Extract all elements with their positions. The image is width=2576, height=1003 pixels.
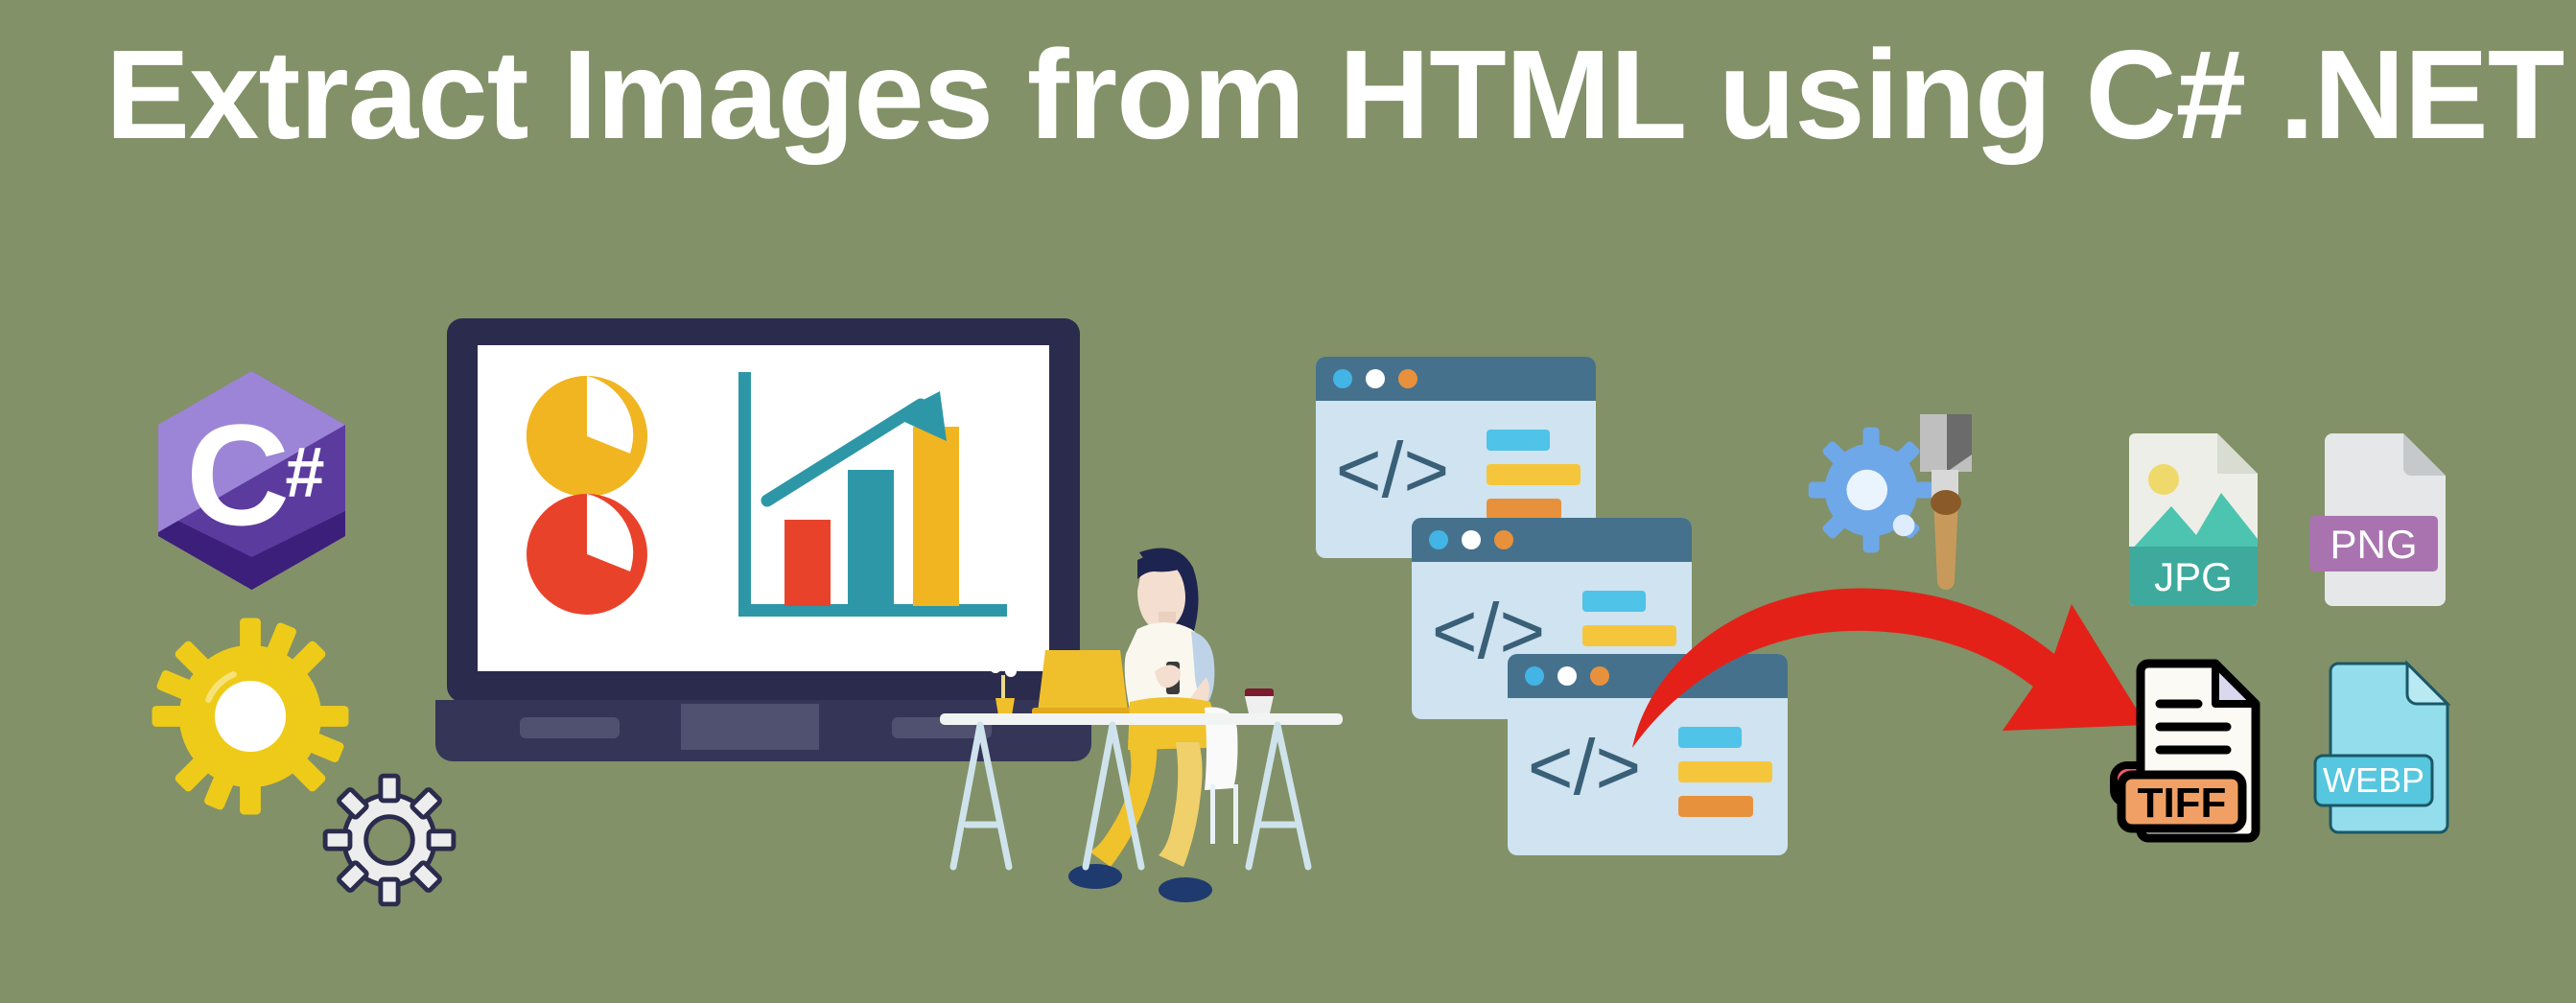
desk-leg-right [1249,725,1308,867]
brush-paint-blob [1931,490,1961,515]
jpg-sun-icon [2148,464,2179,495]
code-symbol: </> [1336,427,1450,514]
desk-leg-left [953,725,1009,867]
csharp-hash: # [285,432,324,512]
coffee-cup [1245,688,1274,713]
gear-hub [215,681,286,752]
code-bar-yellow-icon [1487,464,1581,485]
webp-label: WEBP [2323,760,2424,800]
yellow-laptop [1032,650,1136,715]
png-fold [2403,433,2446,476]
chart-pie-yellow [527,376,647,497]
dot-orange-icon [1590,666,1609,686]
jpg-fold [2217,433,2258,474]
desk-scene [940,537,1381,940]
desk-top [940,713,1343,725]
banner-root: Extract Images from HTML using C# .NET C… [0,0,2576,1003]
dot-white-icon [1557,666,1577,686]
chart-bar-2 [848,470,894,606]
dot-white-icon [1462,530,1481,549]
chart-bar-1 [785,520,831,606]
csharp-logo: C # [153,369,350,592]
csharp-letter: C [186,394,290,555]
png-label: PNG [2330,522,2417,567]
dot-cyan-icon [1333,369,1352,388]
page-title: Extract Images from HTML using C# .NET [105,27,2484,164]
laptop-trackpad [681,704,819,750]
shoe-front [1068,864,1122,889]
dot-cyan-icon [1525,666,1544,686]
conversion-arrow-icon [1621,547,2158,786]
tiff-fold [2215,664,2256,704]
laptop-key-left [520,717,620,738]
code-window-titlebar [1316,357,1596,401]
file-icon-webp[interactable]: WEBP [2313,662,2457,834]
arrow-body [1632,588,2146,748]
code-bar-cyan-icon [1487,430,1550,451]
file-icon-png[interactable]: PNG [2309,433,2453,606]
office-chair [1205,707,1238,844]
webp-fold [2407,664,2447,704]
dot-orange-icon [1494,530,1513,549]
code-bar-orange-icon [1678,796,1753,817]
file-icon-tiff[interactable]: TIFF [2110,662,2271,846]
code-bar-orange-icon [1487,499,1561,520]
shoe-back [1159,877,1212,902]
chart-pie-red [527,494,647,615]
jpg-label: JPG [2154,554,2233,599]
gear-hub [1846,470,1887,511]
dot-cyan-icon [1429,530,1448,549]
tiff-label: TIFF [2138,780,2227,827]
desk-plant [990,649,1017,715]
file-icon-jpg[interactable]: JPG [2121,433,2265,606]
dot-orange-icon [1398,369,1417,388]
dot-white-icon [1366,369,1385,388]
